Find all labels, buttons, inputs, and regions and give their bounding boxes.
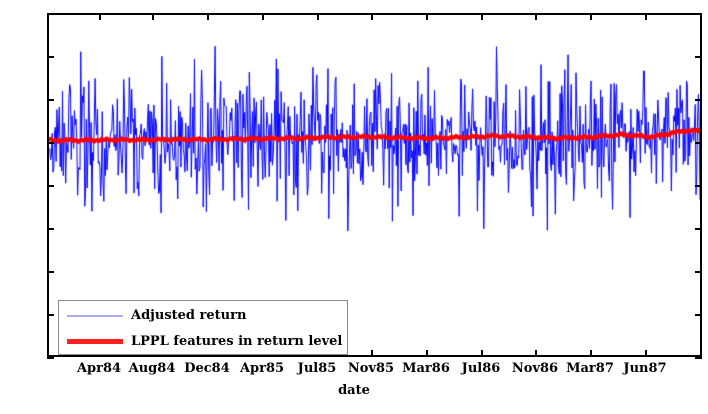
legend-line-swatch-lppl-features — [67, 339, 123, 344]
y-axis-tick-mark-right — [695, 314, 702, 316]
y-axis-tick-mark — [47, 56, 54, 58]
x-axis-tick-label: Nov85 — [343, 362, 399, 375]
x-axis-tick-label: Mar87 — [562, 362, 618, 375]
x-axis-tick-mark-top — [262, 13, 264, 20]
y-axis-tick-mark — [47, 271, 54, 273]
y-axis-tick-mark-right — [695, 185, 702, 187]
y-axis-tick-mark — [47, 185, 54, 187]
legend-item-adjusted-return: Adjusted return — [59, 302, 347, 329]
x-axis-tick-mark-top — [426, 13, 428, 20]
legend-item-lppl-features: LPPL features in return level — [59, 328, 347, 355]
x-axis-tick-label: Dec84 — [179, 362, 235, 375]
x-axis-tick-mark-top — [481, 13, 483, 20]
x-axis-tick-mark-top — [371, 13, 373, 20]
y-axis-tick-mark-right — [695, 142, 702, 144]
x-axis-tick-mark-top — [99, 13, 101, 20]
x-axis-tick-mark-top — [645, 13, 647, 20]
y-axis-tick-mark — [47, 357, 54, 359]
y-axis-tick-mark-right — [695, 357, 702, 359]
x-axis-tick-mark — [590, 350, 592, 357]
x-axis-tick-mark-top — [590, 13, 592, 20]
legend-line-swatch-adjusted-return — [67, 315, 123, 317]
x-axis-tick-mark-top — [317, 13, 319, 20]
y-axis-tick-mark-right — [695, 99, 702, 101]
x-axis-tick-mark-top — [152, 13, 154, 20]
x-axis-tick-label: Apr84 — [71, 362, 127, 375]
x-axis-tick-mark — [371, 350, 373, 357]
y-axis-tick-mark — [47, 142, 54, 144]
x-axis-tick-mark — [481, 350, 483, 357]
y-axis-tick-mark — [47, 314, 54, 316]
x-axis-tick-label: Apr85 — [234, 362, 290, 375]
x-axis-tick-mark — [645, 350, 647, 357]
return-series-chart: 0.030.020.010-0.01-0.02-0.03-0.04-0.05 A… — [0, 0, 708, 414]
x-axis-tick-label: Aug84 — [124, 362, 180, 375]
y-axis-tick-mark — [47, 228, 54, 230]
x-axis-tick-label: Nov86 — [507, 362, 563, 375]
legend-label-lppl-features: LPPL features in return level — [131, 334, 342, 349]
y-axis-tick-mark-right — [695, 228, 702, 230]
x-axis-tick-mark-top — [535, 13, 537, 20]
y-axis-tick-mark-right — [695, 271, 702, 273]
x-axis-tick-label: Jun87 — [617, 362, 673, 375]
x-axis-tick-mark-top — [207, 13, 209, 20]
x-axis-tick-mark — [426, 350, 428, 357]
x-axis-tick-mark — [535, 350, 537, 357]
y-axis-tick-mark — [47, 99, 54, 101]
x-axis-title: date — [0, 383, 708, 398]
x-axis-tick-label: Jul85 — [289, 362, 345, 375]
legend-label-adjusted-return: Adjusted return — [131, 308, 246, 323]
chart-legend: Adjusted return LPPL features in return … — [58, 300, 348, 355]
x-axis-tick-label: Jul86 — [453, 362, 509, 375]
y-axis-tick-mark-right — [695, 56, 702, 58]
x-axis-tick-label: Mar86 — [398, 362, 454, 375]
